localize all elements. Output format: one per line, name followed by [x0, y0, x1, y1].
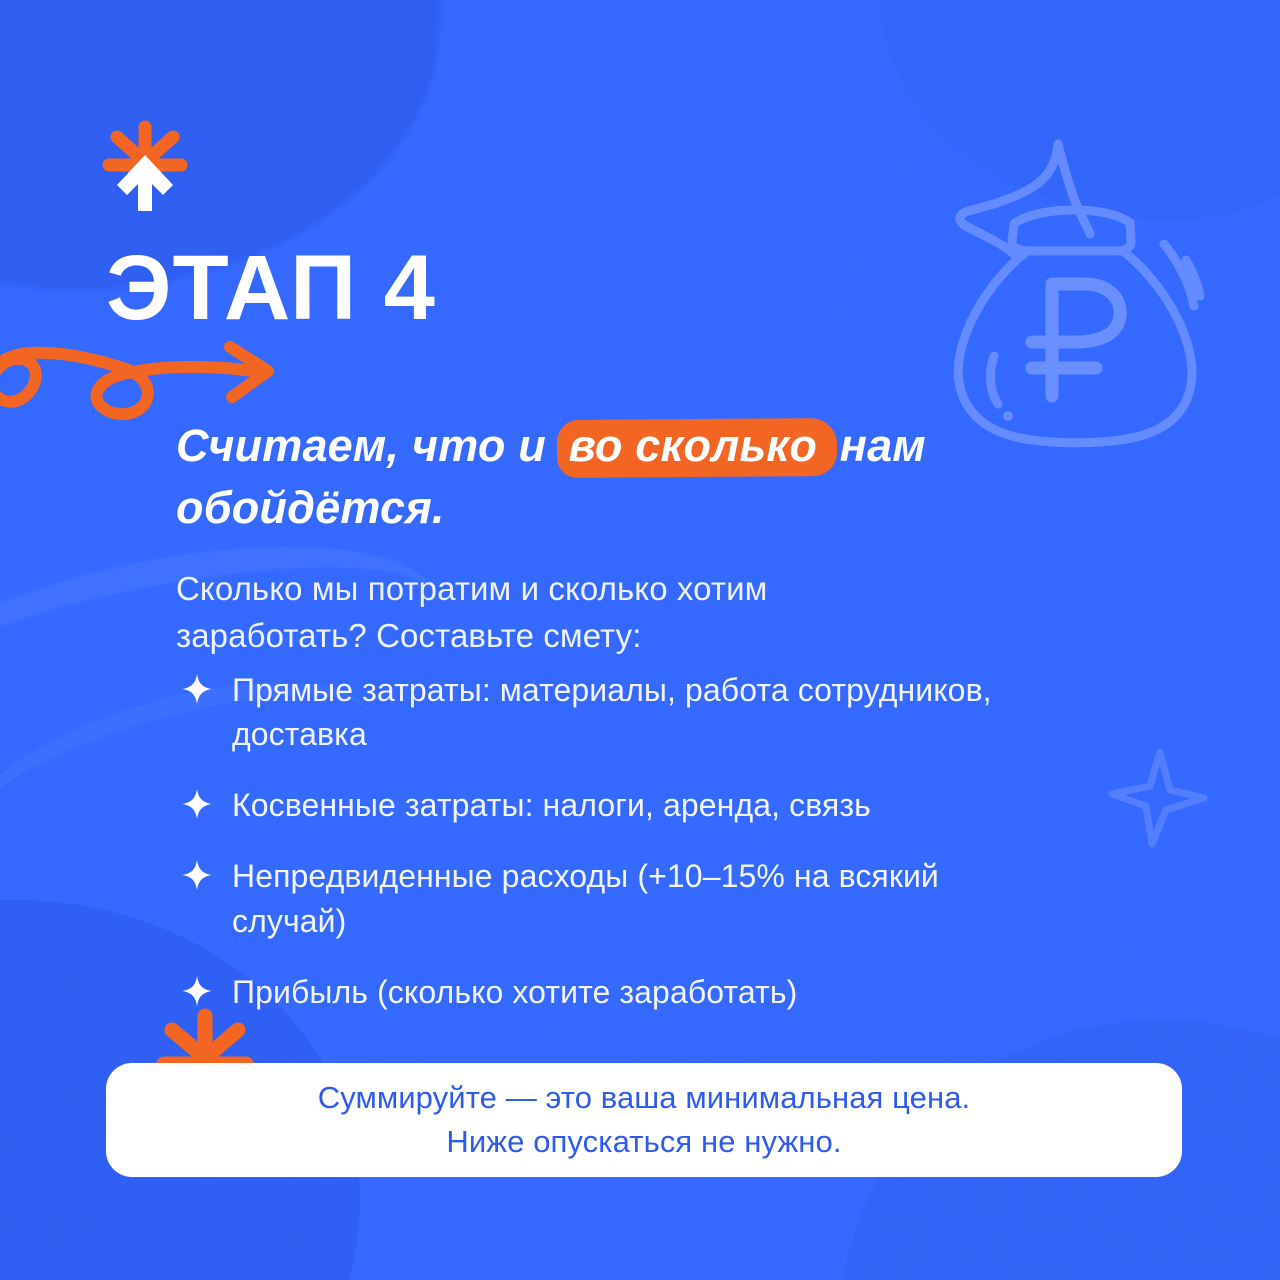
- subtitle: Считаем, что и во сколько нам обойдётся.: [176, 415, 936, 538]
- page-title: ЭТАП 4: [106, 242, 436, 334]
- callout-line-2: Ниже опускаться не нужно.: [446, 1120, 841, 1164]
- list-item-label: Прибыль (сколько хотите заработать): [232, 974, 797, 1010]
- sparkle-icon: [182, 976, 212, 1006]
- list-item: Косвенные затраты: налоги, аренда, связь: [180, 783, 1010, 827]
- summary-callout: Суммируйте — это ваша минимальная цена. …: [106, 1063, 1182, 1177]
- sparkle-icon: [182, 789, 212, 819]
- list-item-label: Непредвиденные расходы (+10–15% на всяки…: [232, 858, 939, 938]
- list-item: Прибыль (сколько хотите заработать): [180, 970, 1010, 1014]
- callout-line-1: Суммируйте — это ваша минимальная цена.: [318, 1076, 971, 1120]
- list-item: Прямые затраты: материалы, работа сотруд…: [180, 668, 1010, 756]
- list-item-label: Прямые затраты: материалы, работа сотруд…: [232, 672, 992, 752]
- lead-paragraph: Сколько мы потратим и сколько хотим зара…: [176, 566, 966, 660]
- sparkle-icon: [182, 674, 212, 704]
- list-item-label: Косвенные затраты: налоги, аренда, связь: [232, 787, 871, 823]
- checklist: Прямые затраты: материалы, работа сотруд…: [180, 668, 1010, 1014]
- subtitle-highlight: во сколько: [559, 415, 827, 478]
- sparkle-icon: [182, 860, 212, 890]
- subtitle-part-before: Считаем, что и: [176, 420, 559, 471]
- list-item: Непредвиденные расходы (+10–15% на всяки…: [180, 854, 1010, 942]
- content-layer: ЭТАП 4 Считаем, что и во сколько нам обо…: [0, 0, 1280, 1280]
- slide-root: ЭТАП 4 Считаем, что и во сколько нам обо…: [0, 0, 1280, 1280]
